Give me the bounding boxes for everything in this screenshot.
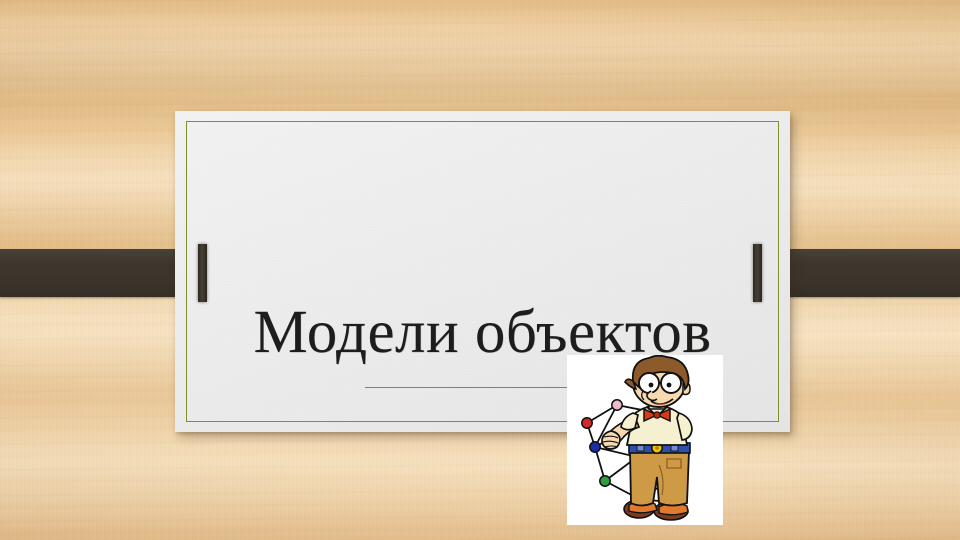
presentation-slide: Модели объектов [0,0,960,540]
model-node-green [600,476,610,486]
model-node-pink [612,400,622,410]
model-node-blue [590,442,600,452]
page-title: Модели объектов [175,302,790,363]
model-node-red [582,418,592,428]
decorative-ribbon-left [0,249,202,297]
ribbon-flange-right [753,244,762,302]
title-card: Модели объектов [175,111,790,432]
illustration-image [567,355,723,525]
ribbon-flange-left [198,244,207,302]
